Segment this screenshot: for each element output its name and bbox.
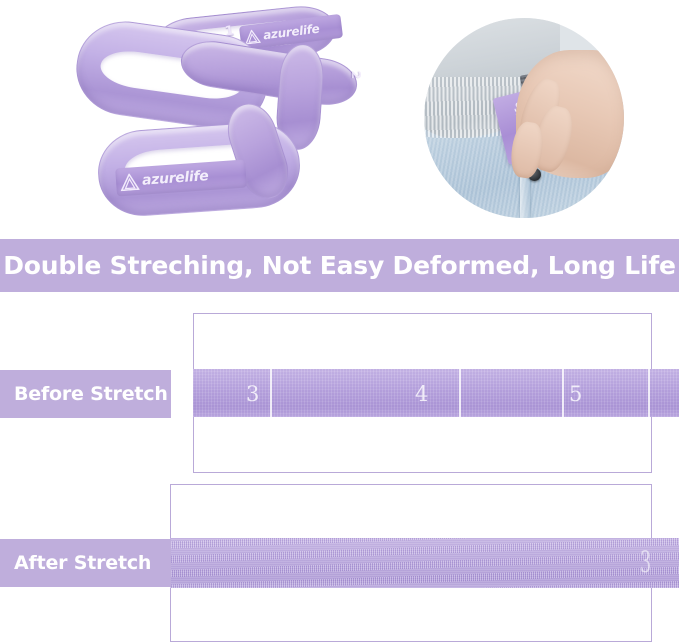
after-stretch-label: After Stretch bbox=[0, 539, 171, 587]
band-number-3: 3 bbox=[246, 382, 259, 406]
pocket-product-photo: azurelife bbox=[424, 18, 624, 218]
before-stretch-label: Before Stretch bbox=[0, 370, 171, 418]
after-stretch-band: 3 bbox=[170, 538, 679, 588]
band-divider bbox=[459, 369, 461, 417]
band-number-3-stretched: 3 bbox=[640, 546, 651, 581]
strap-illustration: azurelife 1 2 azurelife bbox=[62, 4, 362, 230]
product-infographic: azurelife 1 2 azurelife bbox=[0, 0, 679, 644]
strap-brand-text-top: azurelife bbox=[262, 22, 320, 43]
before-stretch-band: 3 4 5 bbox=[193, 369, 679, 417]
after-stretch-label-text: After Stretch bbox=[14, 552, 151, 574]
headline-text: Double Streching, Not Easy Deformed, Lon… bbox=[3, 251, 676, 280]
before-stretch-label-text: Before Stretch bbox=[14, 383, 168, 405]
band-number-5: 5 bbox=[569, 382, 582, 406]
band-divider bbox=[648, 369, 650, 417]
triangle-a-logo-icon bbox=[120, 172, 140, 190]
headline-banner: Double Streching, Not Easy Deformed, Lon… bbox=[0, 239, 679, 292]
strap-loop-number-2: 2 bbox=[349, 71, 362, 79]
strap-product-photo: azurelife 1 2 azurelife bbox=[62, 4, 362, 230]
strap-brand-text-bottom: azurelife bbox=[142, 168, 209, 189]
band-divider bbox=[562, 369, 564, 417]
band-number-4: 4 bbox=[415, 382, 428, 406]
band-divider bbox=[270, 369, 272, 417]
